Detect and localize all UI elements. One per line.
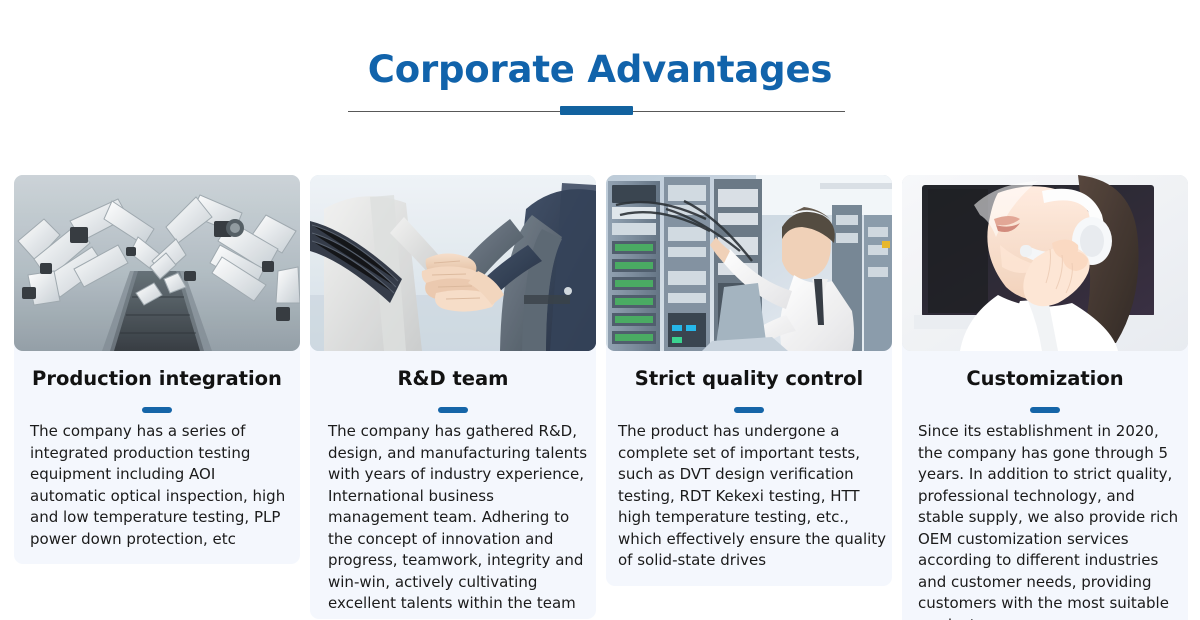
card-image-robotic-arms-assembly-line xyxy=(14,175,300,351)
card-title: Customization xyxy=(902,366,1188,391)
card-accent-bar xyxy=(1030,407,1060,413)
advantage-card-production-integration[interactable]: Production integration The company has a… xyxy=(14,175,300,564)
advantage-card-customization[interactable]: Customization Since its establishment in… xyxy=(902,175,1188,620)
section-header: Corporate Advantages xyxy=(0,0,1200,160)
card-body-text: The product has undergone a complete set… xyxy=(606,421,892,572)
card-title: Production integration xyxy=(14,366,300,391)
card-accent-bar xyxy=(142,407,172,413)
card-title: R&D team xyxy=(310,366,596,391)
card-body-text: The company has gathered R&D, design, an… xyxy=(310,421,596,615)
card-accent-bar xyxy=(734,407,764,413)
page-title: Corporate Advantages xyxy=(0,48,1200,92)
advantage-card-strict-quality-control[interactable]: Strict quality control The product has u… xyxy=(606,175,892,586)
card-image-business-team-hands xyxy=(310,175,596,351)
card-accent-bar xyxy=(438,407,468,413)
advantage-card-rd-team[interactable]: R&D team The company has gathered R&D, d… xyxy=(310,175,596,619)
card-image-customer-support-headset xyxy=(902,175,1188,351)
card-title: Strict quality control xyxy=(606,366,892,391)
corporate-advantages-section: Corporate Advantages xyxy=(0,0,1200,620)
card-image-data-center-server-racks xyxy=(606,175,892,351)
title-divider-accent xyxy=(560,106,633,115)
card-body-text: The company has a series of integrated p… xyxy=(14,421,300,550)
advantage-card-list: Production integration The company has a… xyxy=(14,175,1186,620)
card-body-text: Since its establishment in 2020, the com… xyxy=(902,421,1188,620)
